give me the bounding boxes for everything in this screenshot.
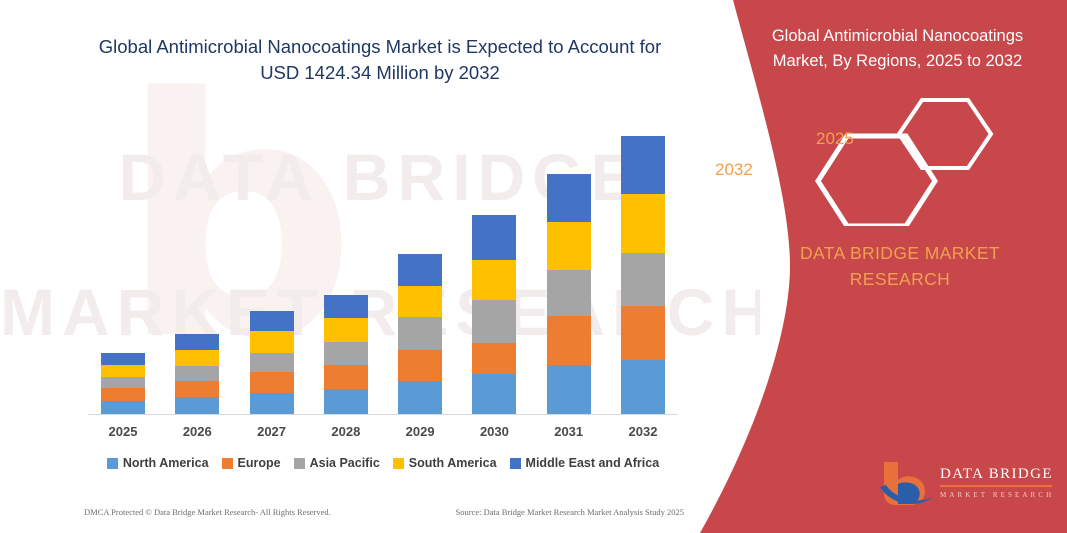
bar-segment[interactable]: [324, 295, 368, 318]
chart-plot-area: [88, 110, 678, 415]
bar-segment[interactable]: [324, 389, 368, 414]
bar-segment[interactable]: [547, 174, 591, 221]
x-axis-tick-label: 2026: [162, 424, 232, 439]
legend-item[interactable]: North America: [107, 456, 209, 470]
x-axis-labels: 20252026202720282029203020312032: [88, 424, 678, 439]
legend-swatch-icon: [294, 458, 305, 469]
bar-segment[interactable]: [547, 222, 591, 270]
bar-segment[interactable]: [175, 350, 219, 366]
brand-wordmark: DATA BRIDGE MARKET RESEARCH: [750, 240, 1050, 292]
logo-text-block: DATA BRIDGE MARKET RESEARCH: [940, 466, 1054, 499]
chart-title: Global Antimicrobial Nanocoatings Market…: [80, 34, 680, 86]
stacked-bar[interactable]: [250, 311, 294, 414]
legend-swatch-icon: [107, 458, 118, 469]
bar-segment[interactable]: [472, 215, 516, 260]
bar-segment[interactable]: [398, 350, 442, 381]
bar-segment[interactable]: [250, 311, 294, 331]
legend-item[interactable]: Middle East and Africa: [510, 456, 660, 470]
bar-segment[interactable]: [547, 365, 591, 414]
stacked-bar[interactable]: [547, 174, 591, 414]
bar-segment[interactable]: [250, 353, 294, 372]
legend-swatch-icon: [510, 458, 521, 469]
stacked-bar[interactable]: [175, 334, 219, 414]
infographic-canvas: b DATA BRIDGE MARKET RESEARCH Global Ant…: [0, 0, 1067, 533]
bar-segment[interactable]: [101, 388, 145, 401]
stacked-bar[interactable]: [472, 215, 516, 414]
stacked-bar-group: [88, 110, 678, 414]
bar-segment[interactable]: [472, 260, 516, 300]
bar-segment[interactable]: [472, 343, 516, 374]
bar-segment[interactable]: [324, 318, 368, 341]
x-axis-tick-label: 2030: [459, 424, 529, 439]
bar-slot: [385, 110, 455, 414]
legend-swatch-icon: [393, 458, 404, 469]
legend-item[interactable]: Asia Pacific: [294, 456, 380, 470]
x-axis-tick-label: 2029: [385, 424, 455, 439]
bar-segment[interactable]: [175, 366, 219, 381]
legend-label: South America: [409, 456, 497, 470]
bar-slot: [311, 110, 381, 414]
bar-segment[interactable]: [175, 334, 219, 349]
bar-segment[interactable]: [175, 397, 219, 414]
bar-segment[interactable]: [324, 342, 368, 365]
x-axis-tick-label: 2025: [88, 424, 158, 439]
panel-title: Global Antimicrobial Nanocoatings Market…: [745, 24, 1050, 74]
legend-label: Asia Pacific: [310, 456, 380, 470]
legend-swatch-icon: [222, 458, 233, 469]
x-axis-tick-label: 2027: [237, 424, 307, 439]
company-logo: DATA BRIDGE MARKET RESEARCH: [878, 460, 1067, 512]
bar-slot: [162, 110, 232, 414]
hexagon-2032-label: 2032: [715, 160, 753, 180]
logo-divider: [940, 485, 1052, 487]
logo-name: DATA BRIDGE: [940, 466, 1054, 483]
bar-segment[interactable]: [398, 381, 442, 414]
legend-item[interactable]: South America: [393, 456, 497, 470]
stacked-bar[interactable]: [398, 254, 442, 414]
hexagon-badges: [722, 96, 1067, 226]
bar-segment[interactable]: [324, 365, 368, 389]
bar-segment[interactable]: [398, 286, 442, 317]
hexagon-2025-outline: [899, 100, 991, 168]
bar-segment[interactable]: [250, 372, 294, 393]
bar-slot: [534, 110, 604, 414]
bar-slot: [88, 110, 158, 414]
bar-slot: [237, 110, 307, 414]
stacked-bar[interactable]: [101, 353, 145, 414]
logo-tagline: MARKET RESEARCH: [940, 491, 1054, 499]
bar-segment[interactable]: [250, 393, 294, 414]
brand-panel: Global Antimicrobial Nanocoatings Market…: [640, 0, 1067, 533]
x-axis-tick-label: 2031: [534, 424, 604, 439]
bar-segment[interactable]: [547, 270, 591, 316]
bar-segment[interactable]: [101, 353, 145, 365]
bar-segment[interactable]: [398, 254, 442, 286]
chart-legend: North AmericaEuropeAsia PacificSouth Ame…: [88, 456, 678, 470]
logo-bridge-icon: [878, 460, 936, 510]
bar-slot: [459, 110, 529, 414]
hexagon-2025-label: 2025: [816, 129, 854, 149]
x-axis-tick-label: 2028: [311, 424, 381, 439]
bar-segment[interactable]: [547, 316, 591, 364]
legend-item[interactable]: Europe: [222, 456, 281, 470]
bar-segment[interactable]: [472, 374, 516, 414]
bar-segment[interactable]: [250, 331, 294, 352]
bar-segment[interactable]: [175, 381, 219, 397]
legend-label: Europe: [238, 456, 281, 470]
bar-segment[interactable]: [472, 300, 516, 342]
legend-label: North America: [123, 456, 209, 470]
hexagon-2032-outline: [818, 136, 935, 226]
bar-segment[interactable]: [398, 317, 442, 349]
bar-segment[interactable]: [101, 365, 145, 377]
footer: DMCA Protected © Data Bridge Market Rese…: [84, 507, 684, 517]
footer-copyright: DMCA Protected © Data Bridge Market Rese…: [84, 507, 331, 517]
stacked-bar[interactable]: [324, 295, 368, 414]
bar-segment[interactable]: [101, 377, 145, 388]
x-axis-line: [88, 414, 678, 415]
bar-segment[interactable]: [101, 401, 145, 414]
brand-panel-content: Global Antimicrobial Nanocoatings Market…: [640, 0, 1067, 533]
